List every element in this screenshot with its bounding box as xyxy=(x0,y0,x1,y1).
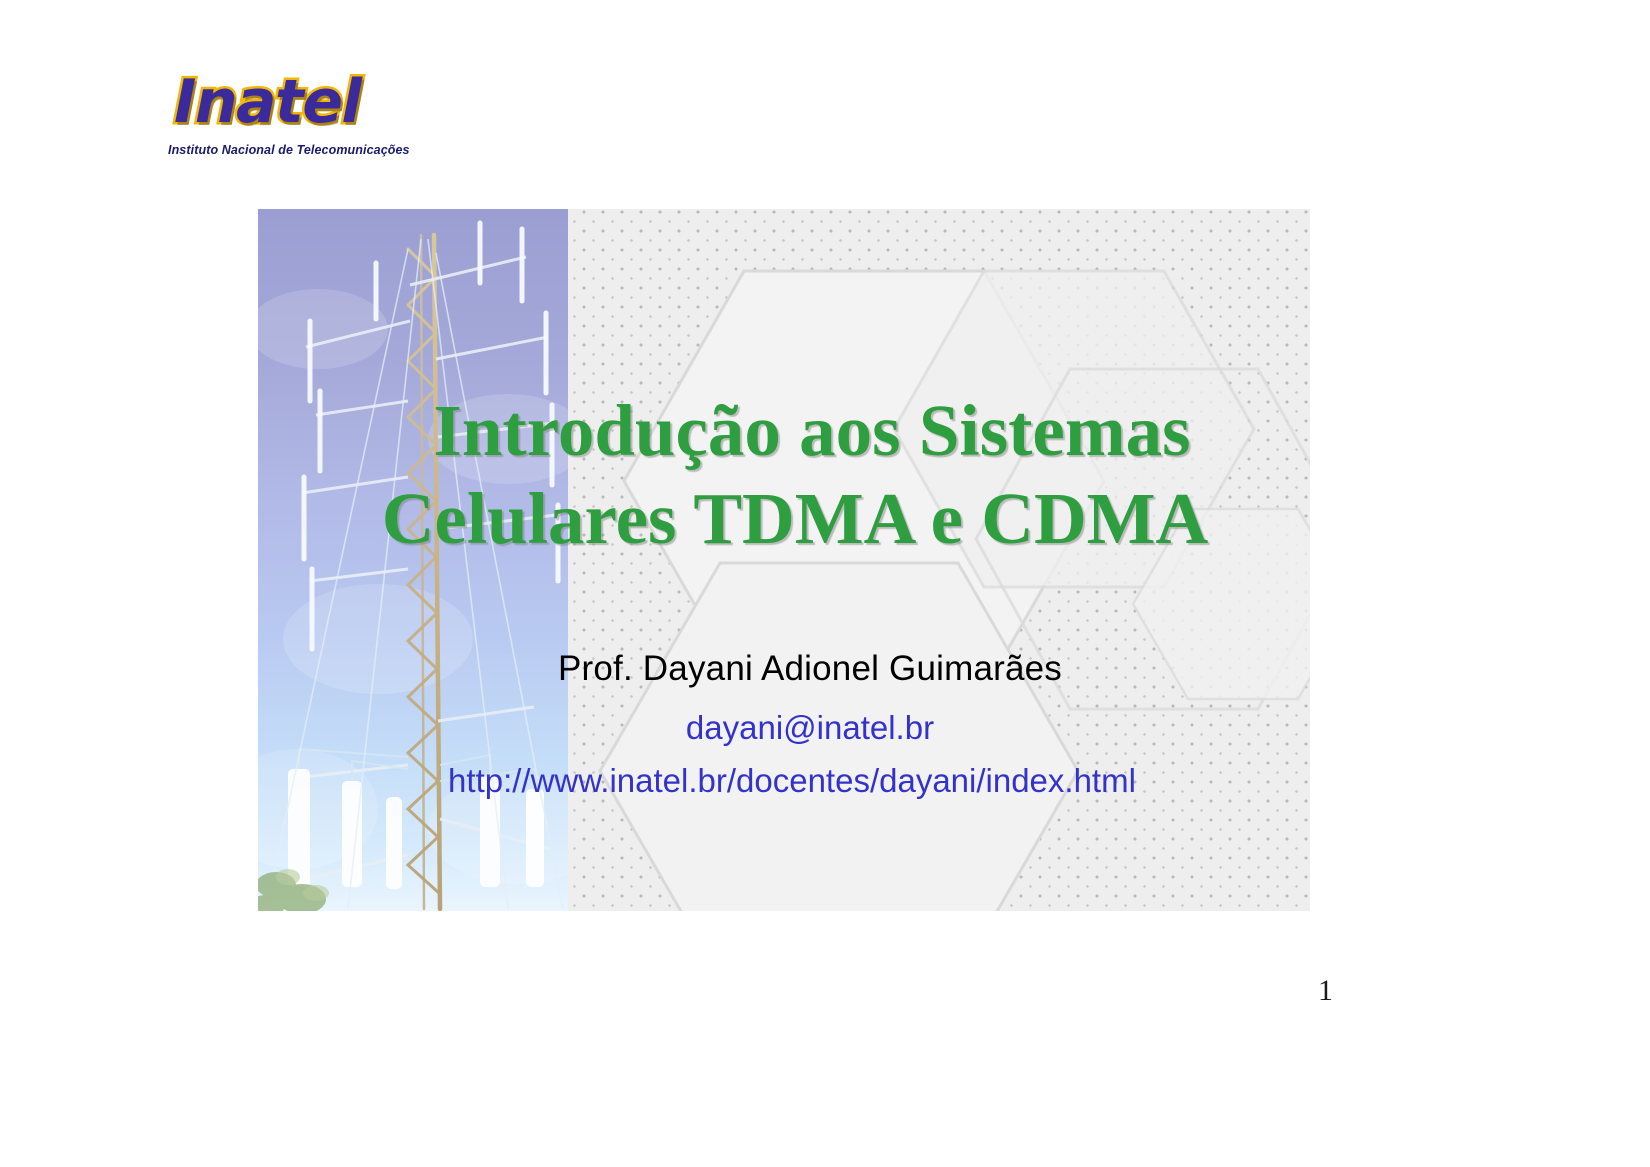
author-name: Prof. Dayani Adionel Guimarães xyxy=(310,649,1310,689)
inatel-tagline: Instituto Nacional de Telecomunicações xyxy=(168,143,418,157)
slide-author-block: Prof. Dayani Adionel Guimarães dayani@in… xyxy=(258,649,1310,800)
author-homepage-link[interactable]: http://www.inatel.br/docentes/dayani/ind… xyxy=(274,762,1310,800)
slide-content-box: Introdução aos Sistemas Celulares TDMA e… xyxy=(258,209,1310,911)
cell-tower-photo xyxy=(258,209,568,911)
inatel-wordmark: Inatel xyxy=(168,72,418,132)
document-page: Inatel Instituto Nacional de Telecomunic… xyxy=(0,0,1650,1167)
inatel-logo: Inatel Instituto Nacional de Telecomunic… xyxy=(168,72,418,172)
author-email-link[interactable]: dayani@inatel.br xyxy=(310,709,1310,747)
page-number: 1 xyxy=(1318,974,1333,1008)
